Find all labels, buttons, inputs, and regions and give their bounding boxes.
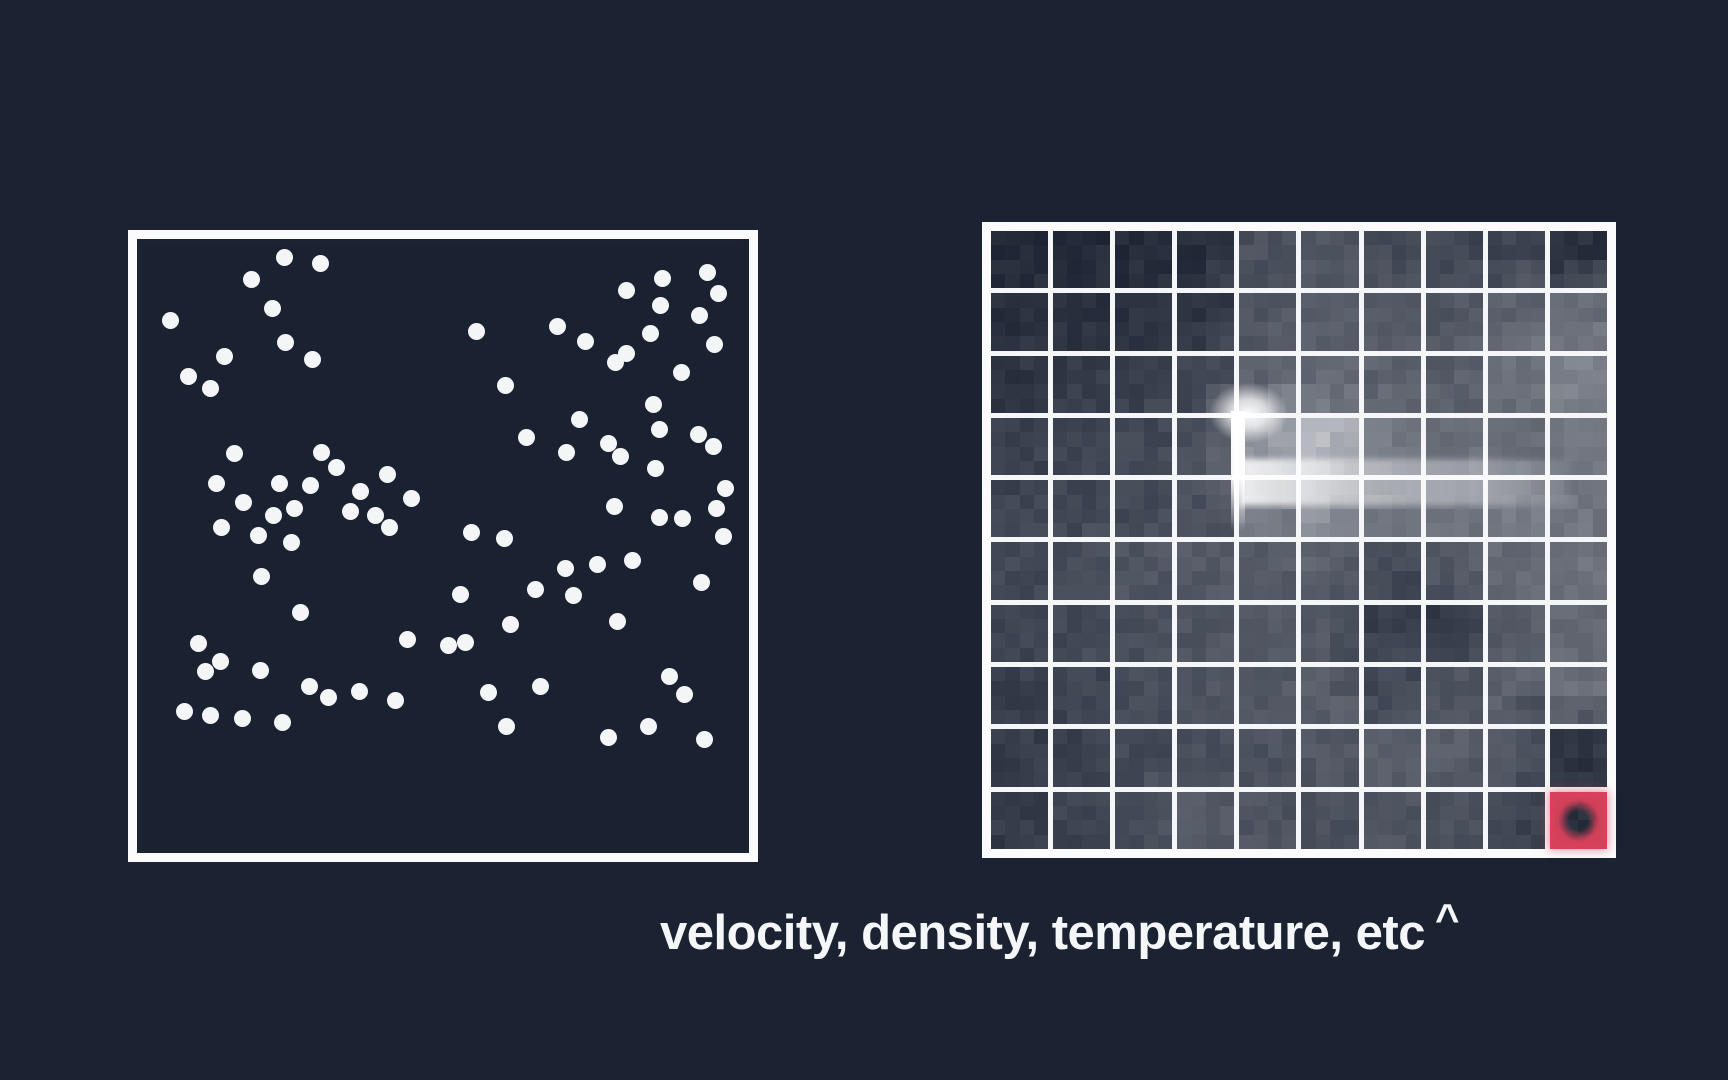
grid-subcell xyxy=(1488,605,1502,619)
grid-cell-r8-c7[interactable] xyxy=(1364,667,1421,724)
grid-cell-r7-c8[interactable] xyxy=(1426,605,1483,662)
grid-subcell xyxy=(991,495,1005,509)
grid-subcell xyxy=(1593,336,1607,350)
grid-subcell xyxy=(1177,681,1191,695)
grid-subcell xyxy=(1344,322,1358,336)
grid-cell-r4-c3[interactable] xyxy=(1115,418,1172,475)
grid-subcell xyxy=(1440,245,1454,259)
grid-subcell xyxy=(1316,648,1330,662)
grid-subcell xyxy=(1550,667,1564,681)
grid-subcell xyxy=(1144,461,1158,475)
grid-subcell xyxy=(1564,585,1578,599)
grid-subcell xyxy=(1192,308,1206,322)
grid-cell-r5-c2[interactable] xyxy=(1053,480,1110,537)
grid-cell-r4-c5[interactable] xyxy=(1239,418,1296,475)
grid-subcell xyxy=(1082,231,1096,245)
grid-cell-r6-c7[interactable] xyxy=(1364,542,1421,599)
grid-subcell xyxy=(1034,495,1048,509)
grid-subcell xyxy=(1301,384,1315,398)
grid-subcell xyxy=(1158,356,1172,370)
grid-cell-r8-c4[interactable] xyxy=(1177,667,1234,724)
grid-cell-r7-c10[interactable] xyxy=(1550,605,1607,662)
grid-subcell xyxy=(1440,293,1454,307)
grid-subcell xyxy=(1378,447,1392,461)
grid-subcell xyxy=(1254,758,1268,772)
grid-cell-r5-c1[interactable] xyxy=(991,480,1048,537)
grid-subcell xyxy=(1254,447,1268,461)
grid-subcell xyxy=(991,758,1005,772)
grid-cell-r2-c9[interactable] xyxy=(1488,293,1545,350)
grid-subcell xyxy=(1115,806,1129,820)
grid-cell-r10-c5[interactable] xyxy=(1239,792,1296,849)
grid-subcell xyxy=(1440,461,1454,475)
grid-subcell xyxy=(1516,480,1530,494)
particle xyxy=(283,534,300,551)
grid-cell-r3-c7[interactable] xyxy=(1364,356,1421,413)
grid-subcell xyxy=(1206,260,1220,274)
grid-cell-r2-c7[interactable] xyxy=(1364,293,1421,350)
grid-cell-r2-c1[interactable] xyxy=(991,293,1048,350)
grid-cell-r4-c6[interactable] xyxy=(1301,418,1358,475)
grid-cell-r2-c6[interactable] xyxy=(1301,293,1358,350)
grid-subcell xyxy=(1053,245,1067,259)
grid-subcell xyxy=(1531,308,1545,322)
grid-subcell xyxy=(1593,231,1607,245)
grid-subcell xyxy=(1158,792,1172,806)
grid-subcell xyxy=(1502,542,1516,556)
grid-cell-r10-c3[interactable] xyxy=(1115,792,1172,849)
grid-subcell xyxy=(1426,542,1440,556)
grid-subcell xyxy=(1488,293,1502,307)
grid-subcell xyxy=(1392,509,1406,523)
grid-subcell xyxy=(1593,495,1607,509)
grid-subcell xyxy=(1005,633,1019,647)
grid-subcell xyxy=(1034,557,1048,571)
grid-subcell xyxy=(1096,681,1110,695)
grid-cell-r8-c1[interactable] xyxy=(991,667,1048,724)
grid-subcell xyxy=(1593,820,1607,834)
grid-cell-r2-c4[interactable] xyxy=(1177,293,1234,350)
grid-cell-r5-c7[interactable] xyxy=(1364,480,1421,537)
grid-cell-r6-c6[interactable] xyxy=(1301,542,1358,599)
grid-subcell xyxy=(1192,772,1206,786)
grid-subcell xyxy=(1239,274,1253,288)
grid-subcell xyxy=(1067,432,1081,446)
particle xyxy=(253,568,270,585)
grid-subcell xyxy=(1344,571,1358,585)
grid-subcell xyxy=(1469,461,1483,475)
particle xyxy=(651,421,668,438)
grid-subcell xyxy=(1564,399,1578,413)
particle xyxy=(440,637,457,654)
grid-subcell xyxy=(1129,806,1143,820)
grid-subcell xyxy=(1330,710,1344,724)
grid-subcell xyxy=(1144,432,1158,446)
grid-subcell xyxy=(1316,274,1330,288)
grid-subcell xyxy=(991,370,1005,384)
grid-subcell xyxy=(1502,245,1516,259)
grid-subcell xyxy=(1344,585,1358,599)
grid-subcell xyxy=(1564,384,1578,398)
grid-cell-r1-c2[interactable] xyxy=(1053,231,1110,288)
grid-subcell xyxy=(1254,418,1268,432)
grid-cell-r10-c4[interactable] xyxy=(1177,792,1234,849)
grid-cell-r6-c8[interactable] xyxy=(1426,542,1483,599)
grid-subcell xyxy=(1469,667,1483,681)
grid-subcell xyxy=(1034,480,1048,494)
grid-cell-r3-c10[interactable] xyxy=(1550,356,1607,413)
grid-subcell xyxy=(1426,356,1440,370)
grid-subcell xyxy=(1144,356,1158,370)
grid-cell-r1-c3[interactable] xyxy=(1115,231,1172,288)
grid-subcell xyxy=(1282,399,1296,413)
grid-subcell xyxy=(1239,308,1253,322)
grid-subcell xyxy=(1005,772,1019,786)
grid-subcell xyxy=(1144,696,1158,710)
grid-subcell xyxy=(1593,792,1607,806)
grid-subcell xyxy=(991,744,1005,758)
grid-subcell xyxy=(1426,696,1440,710)
grid-subcell xyxy=(1115,648,1129,662)
grid-subcell xyxy=(1115,744,1129,758)
grid-cell-r7-c3[interactable] xyxy=(1115,605,1172,662)
grid-cell-r8-c5[interactable] xyxy=(1239,667,1296,724)
grid-subcell xyxy=(1129,585,1143,599)
grid-subcell xyxy=(1364,667,1378,681)
grid-subcell xyxy=(1053,835,1067,849)
grid-subcell xyxy=(1531,231,1545,245)
grid-cell-r9-c6[interactable] xyxy=(1301,729,1358,786)
grid-subcell xyxy=(1192,710,1206,724)
grid-subcell xyxy=(1516,231,1530,245)
grid-subcell xyxy=(1268,681,1282,695)
grid-cell-r7-c7[interactable] xyxy=(1364,605,1421,662)
grid-subcell xyxy=(1053,633,1067,647)
grid-cell-r5-c10[interactable] xyxy=(1550,480,1607,537)
grid-subcell xyxy=(1144,619,1158,633)
grid-subcell xyxy=(1177,399,1191,413)
grid-subcell xyxy=(1053,792,1067,806)
grid-subcell xyxy=(1469,806,1483,820)
grid-cell-r1-c6[interactable] xyxy=(1301,231,1358,288)
grid-subcell xyxy=(1129,231,1143,245)
grid-cell-r5-c5[interactable] xyxy=(1239,480,1296,537)
grid-subcell xyxy=(1206,710,1220,724)
grid-cell-highlighted[interactable] xyxy=(1550,792,1607,849)
grid-cell-r6-c3[interactable] xyxy=(1115,542,1172,599)
particle xyxy=(706,336,723,353)
grid-subcell xyxy=(1192,399,1206,413)
grid-subcell xyxy=(1454,744,1468,758)
grid-cell-r3-c8[interactable] xyxy=(1426,356,1483,413)
grid-subcell xyxy=(1344,633,1358,647)
grid-subcell xyxy=(1578,820,1592,834)
grid-cell-r3-c6[interactable] xyxy=(1301,356,1358,413)
grid-subcell xyxy=(1550,571,1564,585)
grid-subcell xyxy=(1020,447,1034,461)
particle xyxy=(208,475,225,492)
grid-subcell xyxy=(1406,571,1420,585)
grid-cell-r4-c9[interactable] xyxy=(1488,418,1545,475)
grid-subcell xyxy=(1020,356,1034,370)
grid-subcell xyxy=(1020,322,1034,336)
grid-subcell xyxy=(1239,792,1253,806)
particle xyxy=(624,552,641,569)
grid-cell-r5-c9[interactable] xyxy=(1488,480,1545,537)
grid-subcell xyxy=(1144,633,1158,647)
grid-subcell xyxy=(1239,432,1253,446)
grid-subcell xyxy=(1454,461,1468,475)
grid-subcell xyxy=(1005,744,1019,758)
grid-cell-r9-c9[interactable] xyxy=(1488,729,1545,786)
grid-subcell xyxy=(1192,792,1206,806)
grid-subcell xyxy=(991,710,1005,724)
grid-cell-r7-c9[interactable] xyxy=(1488,605,1545,662)
grid-subcell xyxy=(991,231,1005,245)
grid-cell-r9-c3[interactable] xyxy=(1115,729,1172,786)
grid-cell-r3-c4[interactable] xyxy=(1177,356,1234,413)
grid-subcell xyxy=(1454,399,1468,413)
grid-subcell xyxy=(1020,509,1034,523)
grid-cell-r4-c8[interactable] xyxy=(1426,418,1483,475)
grid-subcell xyxy=(1392,835,1406,849)
grid-subcell xyxy=(1192,806,1206,820)
grid-cell-r4-c4[interactable] xyxy=(1177,418,1234,475)
grid-subcell xyxy=(1158,370,1172,384)
grid-cell-r6-c10[interactable] xyxy=(1550,542,1607,599)
grid-subcell xyxy=(1550,772,1564,786)
grid-subcell xyxy=(1502,710,1516,724)
grid-subcell xyxy=(1005,820,1019,834)
grid-cell-r1-c8[interactable] xyxy=(1426,231,1483,288)
grid-subcell xyxy=(1531,633,1545,647)
grid-cell-r9-c10[interactable] xyxy=(1550,729,1607,786)
grid-subcell xyxy=(1020,792,1034,806)
grid-subcell xyxy=(1082,260,1096,274)
grid-cell-r3-c9[interactable] xyxy=(1488,356,1545,413)
grid-subcell xyxy=(1282,648,1296,662)
grid-subcell xyxy=(1082,509,1096,523)
grid-subcell xyxy=(1067,495,1081,509)
grid-subcell xyxy=(1440,336,1454,350)
grid-subcell xyxy=(1593,729,1607,743)
grid-subcell xyxy=(1440,447,1454,461)
grid-subcell xyxy=(1158,557,1172,571)
grid-subcell xyxy=(1593,585,1607,599)
particle xyxy=(212,653,229,670)
grid-subcell xyxy=(1378,495,1392,509)
grid-subcell xyxy=(1301,509,1315,523)
grid-cell-r6-c4[interactable] xyxy=(1177,542,1234,599)
grid-cell-r3-c5[interactable] xyxy=(1239,356,1296,413)
grid-subcell xyxy=(1254,835,1268,849)
grid-subcell xyxy=(1034,696,1048,710)
grid-subcell xyxy=(1440,571,1454,585)
grid-subcell xyxy=(1378,322,1392,336)
grid-subcell xyxy=(1067,336,1081,350)
grid-cell-r5-c8[interactable] xyxy=(1426,480,1483,537)
grid-cell-r3-c2[interactable] xyxy=(1053,356,1110,413)
grid-cell-r2-c8[interactable] xyxy=(1426,293,1483,350)
particle xyxy=(301,678,318,695)
grid-subcell xyxy=(1158,336,1172,350)
grid-cell-r9-c4[interactable] xyxy=(1177,729,1234,786)
grid-subcell xyxy=(1220,523,1234,537)
grid-subcell xyxy=(1034,792,1048,806)
grid-subcell xyxy=(1239,447,1253,461)
grid-cell-r1-c10[interactable] xyxy=(1550,231,1607,288)
grid-subcell xyxy=(1364,710,1378,724)
grid-subcell xyxy=(1034,370,1048,384)
grid-subcell xyxy=(1034,293,1048,307)
grid-subcell xyxy=(1254,356,1268,370)
grid-subcell xyxy=(1344,523,1358,537)
grid-subcell xyxy=(1239,557,1253,571)
grid-cell-r8-c9[interactable] xyxy=(1488,667,1545,724)
grid-subcell xyxy=(1578,447,1592,461)
grid-cell-r7-c1[interactable] xyxy=(991,605,1048,662)
grid-subcell xyxy=(1282,772,1296,786)
grid-subcell xyxy=(1053,461,1067,475)
grid-subcell xyxy=(1344,792,1358,806)
grid-cell-r10-c9[interactable] xyxy=(1488,792,1545,849)
grid-cell-r10-c7[interactable] xyxy=(1364,792,1421,849)
grid-subcell xyxy=(1067,772,1081,786)
grid-cell-r10-c6[interactable] xyxy=(1301,792,1358,849)
grid-cell-r1-c4[interactable] xyxy=(1177,231,1234,288)
grid-subcell xyxy=(1220,696,1234,710)
grid-cell-r8-c6[interactable] xyxy=(1301,667,1358,724)
grid-cell-r9-c8[interactable] xyxy=(1426,729,1483,786)
grid-cell-r9-c5[interactable] xyxy=(1239,729,1296,786)
grid-cell-r7-c5[interactable] xyxy=(1239,605,1296,662)
grid-cell-r6-c5[interactable] xyxy=(1239,542,1296,599)
particle xyxy=(274,714,291,731)
grid-cell-r2-c10[interactable] xyxy=(1550,293,1607,350)
grid-cell-r3-c3[interactable] xyxy=(1115,356,1172,413)
grid-cell-r10-c8[interactable] xyxy=(1426,792,1483,849)
grid-subcell xyxy=(1220,336,1234,350)
grid-subcell xyxy=(1392,585,1406,599)
grid-cell-r1-c1[interactable] xyxy=(991,231,1048,288)
grid-subcell xyxy=(1406,648,1420,662)
grid-subcell xyxy=(1144,231,1158,245)
grid-cell-r6-c2[interactable] xyxy=(1053,542,1110,599)
grid-subcell xyxy=(1144,571,1158,585)
grid-subcell xyxy=(1344,557,1358,571)
grid-subcell xyxy=(1578,806,1592,820)
grid-cell-r8-c3[interactable] xyxy=(1115,667,1172,724)
grid-cell-r1-c9[interactable] xyxy=(1488,231,1545,288)
grid-cell-r4-c1[interactable] xyxy=(991,418,1048,475)
grid-subcell xyxy=(1020,619,1034,633)
grid-cell-r9-c2[interactable] xyxy=(1053,729,1110,786)
grid-subcell xyxy=(1392,820,1406,834)
grid-subcell xyxy=(1469,509,1483,523)
grid-subcell xyxy=(1364,399,1378,413)
grid-subcell xyxy=(1550,370,1564,384)
grid-subcell xyxy=(1268,571,1282,585)
grid-cell-r3-c1[interactable] xyxy=(991,356,1048,413)
grid-subcell xyxy=(1454,260,1468,274)
grid-subcell xyxy=(1392,696,1406,710)
grid-subcell xyxy=(1316,418,1330,432)
grid-cell-r7-c2[interactable] xyxy=(1053,605,1110,662)
grid-subcell xyxy=(1454,274,1468,288)
grid-subcell xyxy=(1144,648,1158,662)
grid-subcell xyxy=(1550,384,1564,398)
grid-subcell xyxy=(1564,667,1578,681)
grid-subcell xyxy=(1239,633,1253,647)
grid-subcell xyxy=(1488,245,1502,259)
grid-cell-r9-c7[interactable] xyxy=(1364,729,1421,786)
grid-cell-r2-c2[interactable] xyxy=(1053,293,1110,350)
grid-cell-r5-c4[interactable] xyxy=(1177,480,1234,537)
grid-subcell xyxy=(1516,293,1530,307)
particle xyxy=(304,351,321,368)
grid-cell-r7-c4[interactable] xyxy=(1177,605,1234,662)
grid-subcell xyxy=(1268,480,1282,494)
grid-subcell xyxy=(1129,571,1143,585)
grid-subcell xyxy=(1096,399,1110,413)
grid-cell-r7-c6[interactable] xyxy=(1301,605,1358,662)
particle xyxy=(379,466,396,483)
grid-subcell xyxy=(1034,384,1048,398)
grid-subcell xyxy=(1206,336,1220,350)
grid-cell-r8-c8[interactable] xyxy=(1426,667,1483,724)
grid-subcell xyxy=(1177,667,1191,681)
grid-subcell xyxy=(991,509,1005,523)
grid-cell-r1-c5[interactable] xyxy=(1239,231,1296,288)
grid-subcell xyxy=(1344,729,1358,743)
grid-subcell xyxy=(1239,585,1253,599)
grid-subcell xyxy=(1502,495,1516,509)
grid-subcell xyxy=(1488,523,1502,537)
grid-subcell xyxy=(1082,245,1096,259)
grid-subcell xyxy=(1239,806,1253,820)
grid-subcell xyxy=(1067,447,1081,461)
grid-cell-r5-c3[interactable] xyxy=(1115,480,1172,537)
grid-subcell xyxy=(1268,835,1282,849)
grid-subcell xyxy=(1034,619,1048,633)
particle-field-canvas xyxy=(143,245,743,847)
grid-cell-r4-c2[interactable] xyxy=(1053,418,1110,475)
grid-cell-r1-c7[interactable] xyxy=(1364,231,1421,288)
grid-cell-r9-c1[interactable] xyxy=(991,729,1048,786)
grid-subcell xyxy=(1282,370,1296,384)
grid-cell-r2-c5[interactable] xyxy=(1239,293,1296,350)
grid-cell-r10-c1[interactable] xyxy=(991,792,1048,849)
grid-cell-r8-c2[interactable] xyxy=(1053,667,1110,724)
grid-subcell xyxy=(1488,557,1502,571)
grid-subcell xyxy=(991,260,1005,274)
grid-subcell xyxy=(1053,619,1067,633)
grid-cell-r8-c10[interactable] xyxy=(1550,667,1607,724)
grid-cell-r10-c2[interactable] xyxy=(1053,792,1110,849)
grid-cell-r6-c9[interactable] xyxy=(1488,542,1545,599)
grid-subcell xyxy=(1067,806,1081,820)
grid-subcell xyxy=(1344,495,1358,509)
grid-cell-r6-c1[interactable] xyxy=(991,542,1048,599)
grid-subcell xyxy=(1550,729,1564,743)
grid-cell-r4-c7[interactable] xyxy=(1364,418,1421,475)
grid-subcell xyxy=(1378,523,1392,537)
grid-cell-r4-c10[interactable] xyxy=(1550,418,1607,475)
grid-subcell xyxy=(1082,495,1096,509)
grid-cell-r2-c3[interactable] xyxy=(1115,293,1172,350)
grid-subcell xyxy=(1454,648,1468,662)
grid-cell-r5-c6[interactable] xyxy=(1301,480,1358,537)
